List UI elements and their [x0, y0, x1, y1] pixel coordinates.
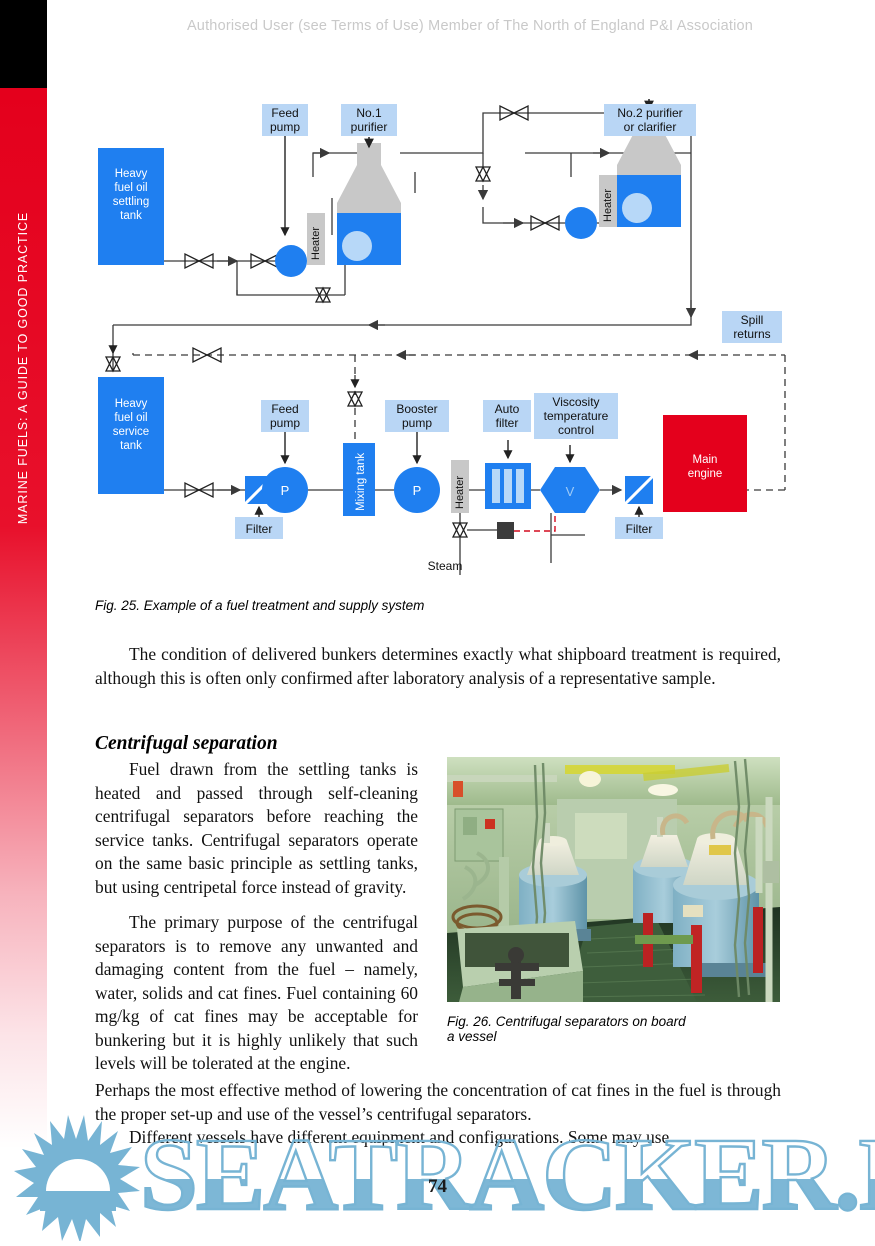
viscosity-glyph: V [566, 484, 575, 499]
figure-26-caption-line2: a vessel [447, 1029, 497, 1044]
valve-icon [476, 167, 490, 181]
paragraph-delivered-bunkers: The condition of delivered bunkers deter… [95, 643, 781, 690]
figure-25-caption: Fig. 25. Example of a fuel treatment and… [95, 598, 424, 613]
paragraph-different-vessels: Different vessels have different equipme… [95, 1126, 781, 1150]
settling-tank-label-3: settling [113, 196, 149, 208]
svg-text:Booster: Booster [396, 402, 437, 416]
settling-tank-label-4: tank [120, 210, 142, 222]
page-number: 74 [0, 1176, 875, 1198]
svg-text:control: control [558, 423, 594, 437]
svg-text:temperature: temperature [544, 409, 609, 423]
svg-text:No.2 purifier: No.2 purifier [617, 106, 682, 120]
svg-text:filter: filter [496, 416, 519, 430]
paragraph-primary-purpose: The primary purpose of the centrifugal s… [95, 911, 418, 1076]
figure-26-caption-line1: Fig. 26. Centrifugal separators on board [447, 1014, 686, 1029]
spine-title-text: MARINE FUELS: A GUIDE TO GOOD PRACTICE [17, 212, 31, 524]
spine-title: MARINE FUELS: A GUIDE TO GOOD PRACTICE [0, 88, 47, 648]
main-engine-label-1: Main [693, 454, 718, 466]
svg-text:No.1: No.1 [356, 106, 382, 120]
control-signal-line [514, 507, 555, 531]
heater-label-3: Heater [454, 476, 466, 509]
feed-pump-circle-top-2 [565, 207, 597, 239]
svg-text:purifier: purifier [351, 120, 388, 134]
service-tank-label-1: Heavy [115, 398, 148, 410]
page-header-notice: Authorised User (see Terms of Use) Membe… [120, 18, 820, 34]
paragraph-fuel-drawn: Fuel drawn from the settling tanks is he… [95, 758, 418, 899]
svg-text:Feed: Feed [271, 402, 298, 416]
svg-text:or clarifier: or clarifier [624, 120, 677, 134]
valve-icon [453, 523, 467, 537]
svg-text:returns: returns [733, 327, 770, 341]
svg-text:Filter: Filter [626, 522, 653, 536]
purifier-1-bowl [342, 231, 372, 261]
paragraph-most-effective-method: Perhaps the most effective method of low… [95, 1079, 781, 1126]
mixing-tank-label: Mixing tank [355, 453, 367, 511]
pump-glyph-1: P [281, 483, 290, 498]
figure-26-caption: Fig. 26. Centrifugal separators on board… [447, 1014, 787, 1044]
section-heading-centrifugal-separation: Centrifugal separation [95, 733, 278, 755]
settling-tank-label-2: fuel oil [114, 182, 147, 194]
label-steam: Steam [428, 559, 463, 573]
main-engine-label-2: engine [688, 468, 723, 480]
heater-label-1: Heater [310, 227, 322, 260]
svg-text:pump: pump [270, 416, 300, 430]
pump-glyph-2: P [413, 483, 422, 498]
svg-text:Auto: Auto [495, 402, 520, 416]
figure-26-photo [447, 757, 780, 1002]
svg-text:pump: pump [402, 416, 432, 430]
engine-room-photo-render [447, 757, 780, 1002]
svg-text:Filter: Filter [246, 522, 273, 536]
service-tank-label-3: service [113, 426, 149, 438]
feed-pump-circle-top [275, 245, 307, 277]
top-left-black-block [0, 0, 47, 88]
control-unit-box [497, 522, 514, 539]
heater-label-2: Heater [602, 189, 614, 222]
svg-text:pump: pump [270, 120, 300, 134]
service-tank-label-2: fuel oil [114, 412, 147, 424]
svg-text:Feed: Feed [271, 106, 298, 120]
svg-text:Spill: Spill [741, 313, 764, 327]
purifier-2-bowl [622, 193, 652, 223]
svg-text:Viscosity: Viscosity [552, 395, 599, 409]
service-tank-label-4: tank [120, 440, 142, 452]
settling-tank-label-1: Heavy [115, 168, 148, 180]
figure-25-diagram: Heavy fuel oil settling tank Heater Heat… [85, 95, 795, 585]
